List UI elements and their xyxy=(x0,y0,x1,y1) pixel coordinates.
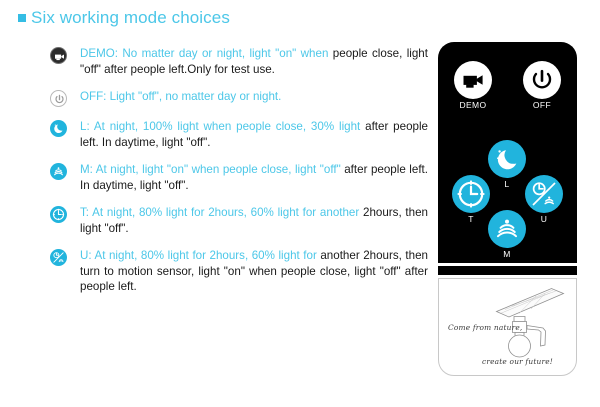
remote-divider-strip xyxy=(438,266,577,275)
remote-button-off[interactable]: OFF xyxy=(523,61,561,110)
slogan-line-1: Come from nature, xyxy=(448,323,522,332)
remote-button-label: U xyxy=(541,215,548,224)
remote-branding-panel: Come from nature, create our future! xyxy=(438,278,577,376)
remote-button-t[interactable]: T xyxy=(452,175,490,224)
slogan-line-2: create our future! xyxy=(482,357,553,366)
clock-icon xyxy=(50,206,67,223)
mode-lead: OFF: Light "off", no matter day or night… xyxy=(80,90,281,103)
mode-icon-cell xyxy=(50,248,80,266)
clock-motion-icon xyxy=(50,249,67,266)
remote-button-label: T xyxy=(468,215,474,224)
mode-icon-cell xyxy=(50,119,80,137)
mode-icon-cell xyxy=(50,162,80,180)
remote-button-label: M xyxy=(503,250,510,259)
mode-icon-cell xyxy=(50,46,80,64)
mode-lead: T: At night, 80% light for 2hours, 60% l… xyxy=(80,206,359,219)
video-camera-icon xyxy=(50,47,67,64)
remote-button-label: L xyxy=(504,180,509,189)
remote-button-u[interactable]: U xyxy=(525,175,563,224)
clock-icon xyxy=(452,175,490,213)
mode-icon-cell xyxy=(50,205,80,223)
mode-text: OFF: Light "off", no matter day or night… xyxy=(80,89,430,105)
mode-text: L: At night, 100% light when people clos… xyxy=(80,119,430,150)
page-title-text: Six working mode choices xyxy=(31,9,230,26)
mode-lead: DEMO: No matter day or night, light "on"… xyxy=(80,47,328,60)
mode-icon-cell xyxy=(50,89,80,107)
remote-button-l[interactable]: L xyxy=(488,140,526,189)
remote-keypad-panel: DEMO OFF L xyxy=(438,42,577,263)
mode-item-m: M: At night, light "on" when people clos… xyxy=(50,162,430,193)
mode-text: T: At night, 80% light for 2hours, 60% l… xyxy=(80,205,430,236)
mode-lead: U: At night, 80% light for 2hours, 60% l… xyxy=(80,249,317,262)
moon-icon xyxy=(488,140,526,178)
mode-text: U: At night, 80% light for 2hours, 60% l… xyxy=(80,248,430,295)
remote-button-m[interactable]: M xyxy=(488,210,526,259)
remote-button-demo[interactable]: DEMO xyxy=(454,61,492,110)
motion-sensor-icon xyxy=(50,163,67,180)
power-icon xyxy=(50,90,67,107)
mode-text: M: At night, light "on" when people clos… xyxy=(80,162,430,193)
power-icon xyxy=(523,61,561,99)
moon-icon xyxy=(50,120,67,137)
video-camera-icon xyxy=(454,61,492,99)
mode-item-demo: DEMO: No matter day or night, light "on"… xyxy=(50,46,430,77)
clock-motion-icon xyxy=(525,175,563,213)
page-title: Six working mode choices xyxy=(18,9,230,26)
mode-item-l: L: At night, 100% light when people clos… xyxy=(50,119,430,150)
remote-control: DEMO OFF L xyxy=(438,42,577,376)
title-bullet-icon xyxy=(18,14,26,22)
remote-button-label: OFF xyxy=(533,101,551,110)
mode-text: DEMO: No matter day or night, light "on"… xyxy=(80,46,430,77)
mode-list: DEMO: No matter day or night, light "on"… xyxy=(50,46,430,307)
mode-lead: L: At night, 100% light when people clos… xyxy=(80,120,360,133)
mode-lead: M: At night, light "on" when people clos… xyxy=(80,163,341,176)
motion-sensor-icon xyxy=(488,210,526,248)
mode-item-t: T: At night, 80% light for 2hours, 60% l… xyxy=(50,205,430,236)
remote-button-label: DEMO xyxy=(459,101,486,110)
mode-item-off: OFF: Light "off", no matter day or night… xyxy=(50,89,430,107)
mode-item-u: U: At night, 80% light for 2hours, 60% l… xyxy=(50,248,430,295)
